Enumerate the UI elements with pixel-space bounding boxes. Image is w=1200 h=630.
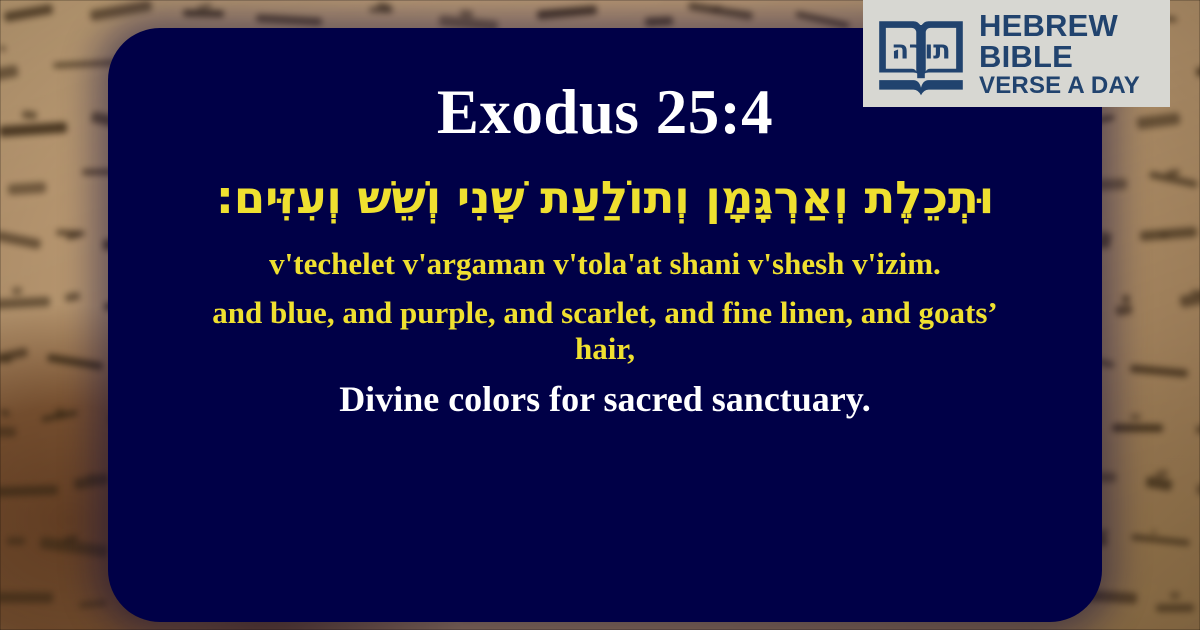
brand-line-hebrew: HEBREW — [979, 10, 1140, 41]
open-book-icon: תורה — [873, 6, 969, 101]
verse-tagline: Divine colors for sacred sanctuary. — [339, 380, 871, 420]
book-hebrew-label: תורה — [891, 35, 950, 65]
verse-card: Exodus 25:4 וּתְכֵלֶת וְאַרְגָּמָן וְתוֹ… — [108, 28, 1102, 622]
brand-line-bible: BIBLE — [979, 41, 1140, 72]
verse-transliteration: v'techelet v'argaman v'tola'at shani v's… — [269, 246, 941, 283]
brand-wordmark: HEBREW BIBLE VERSE A DAY — [979, 10, 1140, 98]
brand-logo[interactable]: תורה HEBREW BIBLE VERSE A DAY — [863, 0, 1170, 107]
verse-graphic: Exodus 25:4 וּתְכֵלֶת וְאַרְגָּמָן וְתוֹ… — [0, 0, 1200, 630]
verse-card-content: Exodus 25:4 וּתְכֵלֶת וְאַרְגָּמָן וְתוֹ… — [108, 28, 1102, 622]
verse-reference: Exodus 25:4 — [437, 80, 773, 144]
brand-line-verse-a-day: VERSE A DAY — [979, 74, 1140, 98]
verse-translation: and blue, and purple, and scarlet, and f… — [205, 295, 1005, 368]
verse-hebrew-text: וּתְכֵלֶת וְאַרְגָּמָן וְתוֹלַעַת שָׁנִי… — [216, 166, 994, 230]
